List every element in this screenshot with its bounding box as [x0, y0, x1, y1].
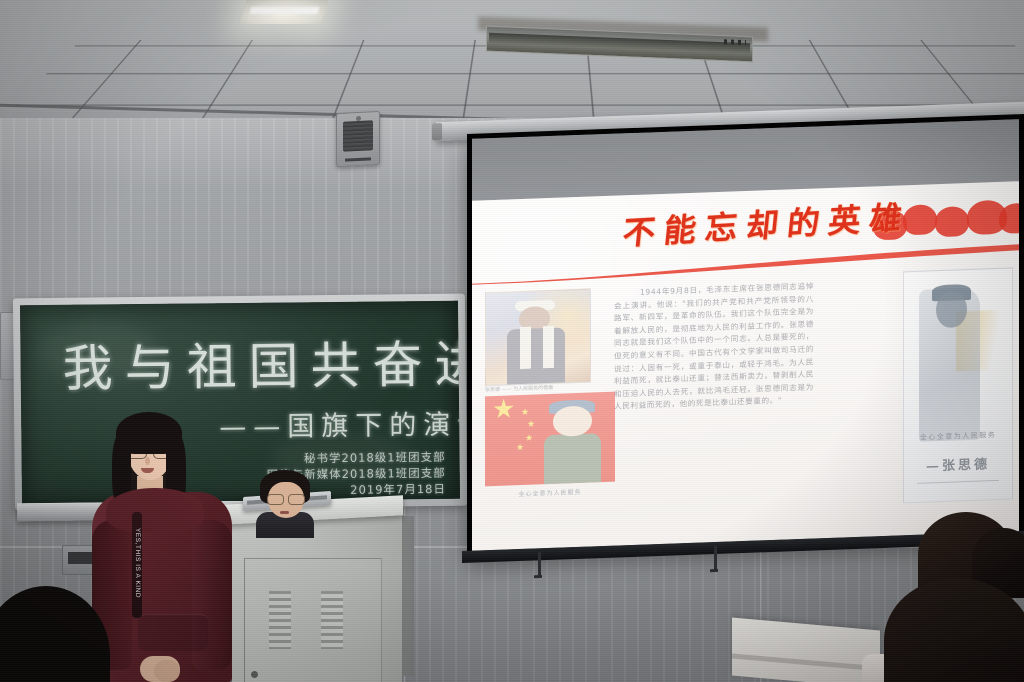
slide-painting-image [485, 289, 591, 387]
screen-hook-right [714, 546, 717, 572]
classroom-photo-scene: 我与祖国共奋进 ——国旗下的演讲 秘书学2018级1班团支部 网络与新媒体201… [0, 0, 1024, 682]
blackboard-surface: 我与祖国共奋进 ——国旗下的演讲 秘书学2018级1班团支部 网络与新媒体201… [20, 301, 460, 504]
blackboard-title: 我与祖国共奋进 [62, 325, 439, 401]
slide-right-panel: 全心全意为人民服务 —张思德 [903, 267, 1013, 503]
speaker-person: YES,THIS IS A KIND [92, 408, 232, 682]
glasses-icon [267, 494, 305, 503]
ceiling-light-icon [240, 0, 329, 24]
projector-screen: 不能忘却的英雄 张思德 —— 为人民服务的楷模 ★ ★★ ★★ 全心全意为人民服… [467, 114, 1024, 556]
presentation-slide: 不能忘却的英雄 张思德 —— 为人民服务的楷模 ★ ★★ ★★ 全心全意为人民服… [472, 181, 1019, 551]
credit-line-1: 秘书学2018级1班团支部 [266, 449, 445, 467]
slide-body-text: 1944年9月8日，毛泽东主席在张思德同志追悼会上演讲。他说："我们的共产党和共… [614, 281, 814, 414]
blackboard-frame: 我与祖国共奋进 ——国旗下的演讲 秘书学2018级1班团支部 网络与新媒体201… [13, 294, 467, 511]
hoodie-text: YES,THIS IS A KIND [133, 528, 141, 598]
blackboard-subtitle: ——国旗下的演讲 [219, 402, 460, 444]
slide-cartoon-image: ★ ★★ ★★ [485, 392, 615, 487]
hoodie-drawstring: YES,THIS IS A KIND [132, 512, 142, 618]
right-panel-caption-name: —张思德 [904, 452, 1012, 475]
blackboard: 我与祖国共奋进 ——国旗下的演讲 秘书学2018级1班团支部 网络与新媒体201… [13, 294, 467, 511]
flag-star-icon: ★ [492, 395, 515, 422]
podium-cabinet-door[interactable] [244, 558, 382, 682]
slide-body-paragraph: 1944年9月8日，毛泽东主席在张思德同志追悼会上演讲。他说："我们的共产党和共… [614, 281, 814, 414]
slide-cartoon-caption: 全心全意为人民服务 [485, 486, 615, 500]
screen-hook-left [538, 552, 541, 578]
seated-student [256, 470, 314, 530]
wall-speaker-icon [336, 111, 380, 167]
projector-screen-surface: 不能忘却的英雄 张思德 —— 为人民服务的楷模 ★ ★★ ★★ 全心全意为人民服… [472, 119, 1019, 551]
